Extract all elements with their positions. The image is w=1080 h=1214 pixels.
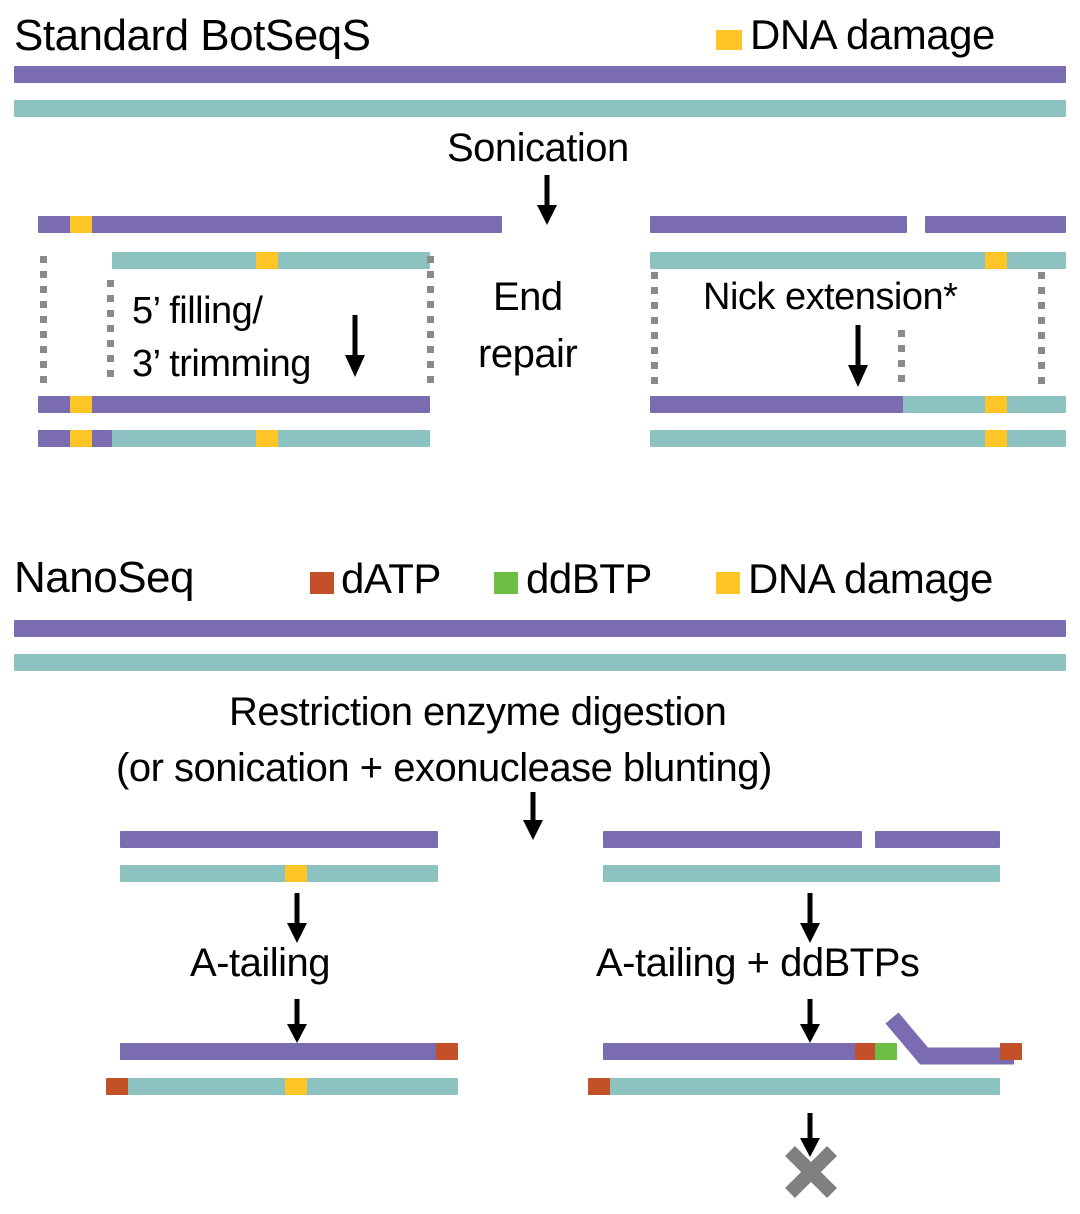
arrow-down-nick-extension — [843, 325, 873, 387]
legend-swatch-dna-damage-top — [716, 30, 742, 50]
legend-label-dna-damage-bottom: DNA damage — [748, 558, 993, 600]
arrow-down-bl-after-atailing — [282, 999, 312, 1043]
figure-canvas: Standard BotSeqS DNA damage Sonication E… — [0, 0, 1080, 1214]
dna-strand-tl-purple-top — [38, 216, 502, 233]
dotted-guide-tr-2 — [898, 330, 905, 384]
dotted-guide-tl-2 — [107, 280, 114, 384]
dna-strand-br-teal — [603, 865, 1000, 882]
dna-strand-br-purple-left — [603, 831, 862, 848]
dna-damage-mark-tl-2 — [256, 252, 278, 269]
datp-mark-br-1 — [855, 1043, 877, 1060]
dna-strand-bottom-full-teal — [14, 654, 1066, 671]
dna-damage-mark-tl-3 — [70, 396, 92, 413]
dna-strand-bottom-full-purple — [14, 620, 1066, 637]
dna-strand-tr-purple-left — [650, 216, 907, 233]
legend-swatch-datp — [310, 572, 334, 594]
step-label-end-repair-line2: repair — [478, 334, 577, 374]
datp-mark-bl-2 — [106, 1078, 128, 1095]
dna-damage-mark-bl-1 — [285, 865, 307, 882]
step-label-nick-extension: Nick extension* — [703, 278, 957, 316]
legend-label-dna-damage-top: DNA damage — [750, 14, 995, 56]
dna-damage-mark-tl-5 — [256, 430, 278, 447]
step-label-digestion-line2: (or sonication + exonuclease blunting) — [116, 748, 772, 788]
dna-damage-mark-bl-2 — [285, 1078, 307, 1095]
arrow-down-sonication — [530, 175, 564, 225]
legend-label-ddbtp: ddBTP — [526, 558, 652, 600]
datp-mark-br-2 — [1000, 1043, 1022, 1060]
step-label-filling-trimming-line1: 5’ filling/ — [132, 292, 262, 330]
panel-title-standard-botseqs: Standard BotSeqS — [14, 14, 370, 58]
dna-strand-br-purple-right — [875, 831, 1000, 848]
arrow-down-filling-trimming — [340, 315, 370, 377]
dna-strand-bl-purple — [120, 831, 438, 848]
dna-strand-bl-teal-tailed — [106, 1078, 458, 1095]
legend-swatch-dna-damage-bottom — [716, 572, 740, 594]
dna-strand-bl-purple-tailed — [120, 1043, 458, 1060]
step-label-filling-trimming-line2: 3’ trimming — [132, 345, 311, 383]
legend-label-datp: dATP — [341, 558, 441, 600]
dna-strand-br-teal-tailed — [588, 1078, 1000, 1095]
x-mark-icon-ligation-blocked — [782, 1143, 840, 1201]
dotted-guide-tr-3 — [1038, 272, 1045, 384]
dna-strand-tr-purple-extended — [650, 396, 903, 413]
dotted-guide-tl-1 — [40, 256, 47, 384]
dna-strand-br-purple-tailed — [603, 1043, 857, 1060]
arrow-down-br-after-atailing — [795, 999, 825, 1043]
dotted-guide-tr-1 — [651, 272, 658, 384]
dna-strand-br-bent-purple — [880, 1012, 1020, 1068]
legend-swatch-ddbtp — [494, 572, 518, 594]
panel-title-nanoseq: NanoSeq — [14, 556, 194, 600]
step-label-sonication: Sonication — [447, 128, 629, 168]
arrow-down-bl-to-atailing — [282, 893, 312, 943]
dotted-guide-tl-3 — [427, 256, 434, 384]
step-label-a-tailing-ddbtps: A-tailing + ddBTPs — [596, 943, 919, 983]
step-label-a-tailing: A-tailing — [190, 943, 330, 983]
arrow-down-digestion — [516, 792, 550, 840]
dna-damage-mark-tl-4 — [70, 430, 92, 447]
datp-mark-bl-1 — [436, 1043, 458, 1060]
dna-strand-bl-teal — [120, 865, 438, 882]
arrow-down-br-to-atailing — [795, 893, 825, 943]
dna-strand-top-full-purple — [14, 66, 1066, 83]
dna-strand-tr-purple-right — [925, 216, 1066, 233]
dna-damage-mark-tr-1 — [985, 252, 1007, 269]
dna-damage-mark-tr-3 — [985, 430, 1007, 447]
dna-damage-mark-tr-2 — [985, 396, 1007, 413]
step-label-end-repair-line1: End — [493, 277, 563, 317]
datp-mark-br-3 — [588, 1078, 610, 1095]
dna-strand-tl-purple-repaired — [38, 396, 430, 413]
dna-strand-top-full-teal — [14, 100, 1066, 117]
step-label-digestion-line1: Restriction enzyme digestion — [229, 692, 726, 732]
dna-damage-mark-tl-1 — [70, 216, 92, 233]
